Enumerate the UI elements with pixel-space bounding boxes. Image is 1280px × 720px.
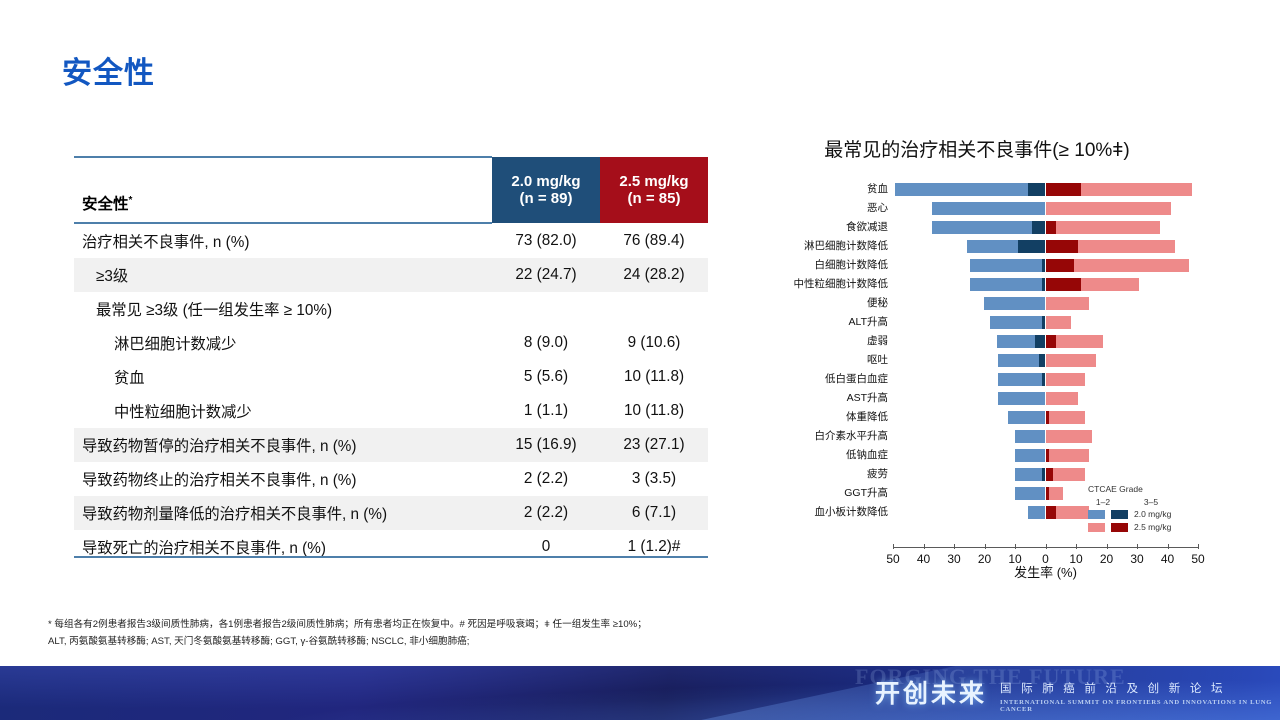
bar-segment-2-5-grade-3-5 <box>1046 468 1053 481</box>
table-row: 淋巴细胞计数减少8 (9.0)9 (10.6) <box>74 326 708 360</box>
table-row: 导致药物暂停的治疗相关不良事件, n (%)15 (16.9)23 (27.1) <box>74 428 708 462</box>
chart-bar-row <box>745 449 1215 462</box>
bar-segment-2-0-grade-1-2 <box>998 392 1046 405</box>
chart-x-tick <box>985 544 986 549</box>
bar-segment-2-5-grade-1-2 <box>1049 449 1088 462</box>
chart-x-tick <box>954 544 955 549</box>
bar-segment-2-0-grade-1-2 <box>1015 468 1042 481</box>
bar-segment-2-5-grade-1-2 <box>1049 487 1063 500</box>
chart-title: 最常见的治疗相关不良事件(≥ 10%ǂ) <box>747 135 1207 162</box>
bar-segment-2-5-grade-3-5 <box>1046 183 1082 196</box>
safety-table-element: 安全性* 2.0 mg/kg (n = 89) 2.5 mg/kg (n = 8… <box>74 156 708 564</box>
bar-segment-2-0-grade-1-2 <box>997 335 1035 348</box>
bar-segment-2-0-grade-1-2 <box>984 297 1046 310</box>
bar-segment-2-5-grade-1-2 <box>1078 240 1175 253</box>
table-cell-2-5mgkg: 76 (89.4) <box>600 223 708 258</box>
table-row: 贫血5 (5.6)10 (11.8) <box>74 360 708 394</box>
legend-swatch-2-5-grade12 <box>1088 523 1105 532</box>
bar-segment-2-5-grade-1-2 <box>1056 506 1088 519</box>
chart-x-tick <box>1107 544 1108 549</box>
table-cell-label: 导致死亡的治疗相关不良事件, n (%) <box>74 530 492 564</box>
table-row: 中性粒细胞计数减少1 (1.1)10 (11.8) <box>74 394 708 428</box>
bar-segment-2-0-grade-1-2 <box>1015 449 1046 462</box>
footnote-line-1: * 每组各有2例患者报告3级间质性肺病，各1例患者报告2级间质性肺病；所有患者均… <box>48 616 848 633</box>
chart-bar-row <box>745 278 1215 291</box>
table-row: 最常见 ≥3级 (任一组发生率 ≥ 10%) <box>74 292 708 326</box>
chart-bar-row <box>745 259 1215 272</box>
bar-segment-2-0-grade-3-5 <box>1035 335 1045 348</box>
bar-segment-2-0-grade-1-2 <box>970 278 1042 291</box>
bar-segment-2-0-grade-3-5 <box>1028 183 1045 196</box>
table-row: 治疗相关不良事件, n (%)73 (82.0)76 (89.4) <box>74 223 708 258</box>
table-cell-2-0mgkg: 8 (9.0) <box>492 326 600 360</box>
chart-bar-row <box>745 392 1215 405</box>
safety-table: 安全性* 2.0 mg/kg (n = 89) 2.5 mg/kg (n = 8… <box>74 156 708 564</box>
chart-bar-row <box>745 335 1215 348</box>
table-cell-2-5mgkg <box>600 292 708 326</box>
table-cell-label: ≥3级 <box>74 258 492 292</box>
table-cell-2-0mgkg: 15 (16.9) <box>492 428 600 462</box>
bar-segment-2-0-grade-1-2 <box>970 259 1042 272</box>
col-a-n: (n = 89) <box>492 190 600 207</box>
table-cell-label: 贫血 <box>74 360 492 394</box>
legend-swatch-2-5-grade35 <box>1111 523 1128 532</box>
bar-segment-2-5-grade-3-5 <box>1046 240 1078 253</box>
table-header-row: 安全性* 2.0 mg/kg (n = 89) 2.5 mg/kg (n = 8… <box>74 157 708 223</box>
table-cell-2-5mgkg: 1 (1.2)# <box>600 530 708 564</box>
table-cell-2-5mgkg: 3 (3.5) <box>600 462 708 496</box>
bar-segment-2-5-grade-1-2 <box>1046 297 1089 310</box>
chart-x-tick <box>1046 544 1047 549</box>
chart-bar-row <box>745 240 1215 253</box>
footer-banner: FORGING THE FUTURE 开创未来 国 际 肺 癌 前 沿 及 创 … <box>0 666 1280 720</box>
legend-head-grade-3-5: 3–5 <box>1138 497 1164 507</box>
chart-bar-row <box>745 183 1215 196</box>
table-cell-label: 最常见 ≥3级 (任一组发生率 ≥ 10%) <box>74 292 492 326</box>
bar-segment-2-0-grade-1-2 <box>1015 487 1046 500</box>
col-a-dose: 2.0 mg/kg <box>492 173 600 190</box>
bar-segment-2-0-grade-3-5 <box>1039 354 1046 367</box>
table-header-col-2-0mgkg: 2.0 mg/kg (n = 89) <box>492 157 600 223</box>
bar-segment-2-0-grade-1-2 <box>932 221 1031 234</box>
chart-bar-row <box>745 202 1215 215</box>
bar-segment-2-5-grade-1-2 <box>1046 392 1078 405</box>
bar-segment-2-0-grade-1-2 <box>1008 411 1046 424</box>
bar-segment-2-0-grade-1-2 <box>998 373 1043 386</box>
chart-x-tick <box>1168 544 1169 549</box>
table-cell-2-5mgkg: 10 (11.8) <box>600 360 708 394</box>
table-cell-2-5mgkg: 23 (27.1) <box>600 428 708 462</box>
table-bottom-rule <box>74 556 708 558</box>
chart-x-tick <box>1198 544 1199 549</box>
bar-segment-2-0-grade-1-2 <box>998 354 1039 367</box>
chart-bar-row <box>745 411 1215 424</box>
table-cell-2-0mgkg <box>492 292 600 326</box>
table-cell-label: 治疗相关不良事件, n (%) <box>74 223 492 258</box>
bar-segment-2-0-grade-3-5 <box>1032 221 1046 234</box>
bar-segment-2-5-grade-1-2 <box>1046 373 1085 386</box>
chart-x-tick <box>924 544 925 549</box>
table-cell-label: 淋巴细胞计数减少 <box>74 326 492 360</box>
table-body: 治疗相关不良事件, n (%)73 (82.0)76 (89.4)≥3级22 (… <box>74 223 708 564</box>
table-row: 导致死亡的治疗相关不良事件, n (%)01 (1.2)# <box>74 530 708 564</box>
bar-segment-2-0-grade-1-2 <box>1015 430 1046 443</box>
legend-label-2-5mgkg: 2.5 mg/kg <box>1134 522 1171 532</box>
bar-segment-2-0-grade-1-2 <box>1028 506 1045 519</box>
table-cell-2-0mgkg: 5 (5.6) <box>492 360 600 394</box>
chart-bar-row <box>745 354 1215 367</box>
chart-bar-row <box>745 430 1215 443</box>
table-cell-label: 导致药物终止的治疗相关不良事件, n (%) <box>74 462 492 496</box>
legend-row-2-5mgkg: 2.5 mg/kg <box>1088 522 1171 532</box>
bar-segment-2-5-grade-1-2 <box>1081 278 1139 291</box>
col-b-n: (n = 85) <box>600 190 708 207</box>
bar-segment-2-0-grade-3-5 <box>1018 240 1045 253</box>
legend-row-2-0mgkg: 2.0 mg/kg <box>1088 509 1171 519</box>
table-cell-2-5mgkg: 6 (7.1) <box>600 496 708 530</box>
table-cell-2-0mgkg: 73 (82.0) <box>492 223 600 258</box>
chart-bar-row <box>745 373 1215 386</box>
chart-legend: CTCAE Grade 1–2 3–5 2.0 mg/kg 2.5 mg/kg <box>1088 484 1171 535</box>
footer-cn-title: 开创未来 <box>875 674 987 710</box>
bar-segment-2-5-grade-1-2 <box>1081 183 1191 196</box>
bar-segment-2-5-grade-1-2 <box>1074 259 1189 272</box>
table-cell-label: 中性粒细胞计数减少 <box>74 394 492 428</box>
footnotes: * 每组各有2例患者报告3级间质性肺病，各1例患者报告2级间质性肺病；所有患者均… <box>48 616 848 650</box>
legend-swatch-2-0-grade35 <box>1111 510 1128 519</box>
table-cell-2-0mgkg: 2 (2.2) <box>492 462 600 496</box>
table-cell-label: 导致药物暂停的治疗相关不良事件, n (%) <box>74 428 492 462</box>
col-b-dose: 2.5 mg/kg <box>600 173 708 190</box>
footnote-line-2: ALT, 丙氨酸氨基转移酶; AST, 天门冬氨酸氨基转移酶; GGT, γ-谷… <box>48 633 848 650</box>
bar-segment-2-5-grade-3-5 <box>1046 506 1057 519</box>
bar-segment-2-5-grade-1-2 <box>1056 221 1160 234</box>
table-header-label-text: 安全性 <box>82 196 129 213</box>
chart-bar-row <box>745 316 1215 329</box>
bar-segment-2-5-grade-1-2 <box>1046 316 1071 329</box>
legend-title: CTCAE Grade <box>1088 484 1171 494</box>
table-cell-2-5mgkg: 24 (28.2) <box>600 258 708 292</box>
legend-head-grade-1-2: 1–2 <box>1090 497 1116 507</box>
table-head: 安全性* 2.0 mg/kg (n = 89) 2.5 mg/kg (n = 8… <box>74 157 708 223</box>
bar-segment-2-5-grade-1-2 <box>1056 335 1103 348</box>
bar-segment-2-5-grade-1-2 <box>1049 411 1085 424</box>
chart-bar-row <box>745 221 1215 234</box>
chart-x-tick <box>1137 544 1138 549</box>
bar-segment-2-5-grade-3-5 <box>1046 221 1057 234</box>
footer-subtitle-en: INTERNATIONAL SUMMIT ON FRONTIERS AND IN… <box>1000 699 1280 713</box>
table-cell-2-0mgkg: 22 (24.7) <box>492 258 600 292</box>
bar-segment-2-5-grade-1-2 <box>1053 468 1085 481</box>
bar-segment-2-0-grade-1-2 <box>932 202 1045 215</box>
chart-bar-row <box>745 297 1215 310</box>
bar-segment-2-5-grade-1-2 <box>1046 354 1096 367</box>
table-cell-2-0mgkg: 1 (1.1) <box>492 394 600 428</box>
legend-label-2-0mgkg: 2.0 mg/kg <box>1134 509 1171 519</box>
bar-segment-2-0-grade-1-2 <box>990 316 1042 329</box>
chart-bar-row <box>745 468 1215 481</box>
bar-segment-2-5-grade-3-5 <box>1046 335 1057 348</box>
table-cell-2-5mgkg: 9 (10.6) <box>600 326 708 360</box>
table-header-col-2-5mgkg: 2.5 mg/kg (n = 85) <box>600 157 708 223</box>
bar-segment-2-0-grade-1-2 <box>967 240 1019 253</box>
page-title: 安全性 <box>62 48 155 92</box>
table-row: ≥3级22 (24.7)24 (28.2) <box>74 258 708 292</box>
bar-segment-2-5-grade-3-5 <box>1046 259 1075 272</box>
table-row: 导致药物剂量降低的治疗相关不良事件, n (%)2 (2.2)6 (7.1) <box>74 496 708 530</box>
table-cell-2-5mgkg: 10 (11.8) <box>600 394 708 428</box>
bar-segment-2-0-grade-1-2 <box>895 183 1029 196</box>
table-cell-2-0mgkg: 0 <box>492 530 600 564</box>
table-cell-2-0mgkg: 2 (2.2) <box>492 496 600 530</box>
bar-segment-2-5-grade-3-5 <box>1046 278 1082 291</box>
table-row: 导致药物终止的治疗相关不良事件, n (%)2 (2.2)3 (3.5) <box>74 462 708 496</box>
chart-x-tick <box>1076 544 1077 549</box>
chart-x-axis-title: 发生率 (%) <box>886 562 1206 581</box>
bar-segment-2-5-grade-1-2 <box>1046 202 1172 215</box>
bar-segment-2-5-grade-1-2 <box>1046 430 1093 443</box>
legend-swatch-2-0-grade12 <box>1088 510 1105 519</box>
table-cell-label: 导致药物剂量降低的治疗相关不良事件, n (%) <box>74 496 492 530</box>
footer-subtitle-cn: 国 际 肺 癌 前 沿 及 创 新 论 坛 <box>1000 680 1226 696</box>
chart-x-tick <box>893 544 894 549</box>
table-header-label-footnote: * <box>129 195 133 206</box>
table-header-label: 安全性* <box>74 157 492 223</box>
chart-x-tick <box>1015 544 1016 549</box>
legend-column-headers: 1–2 3–5 <box>1088 497 1171 507</box>
